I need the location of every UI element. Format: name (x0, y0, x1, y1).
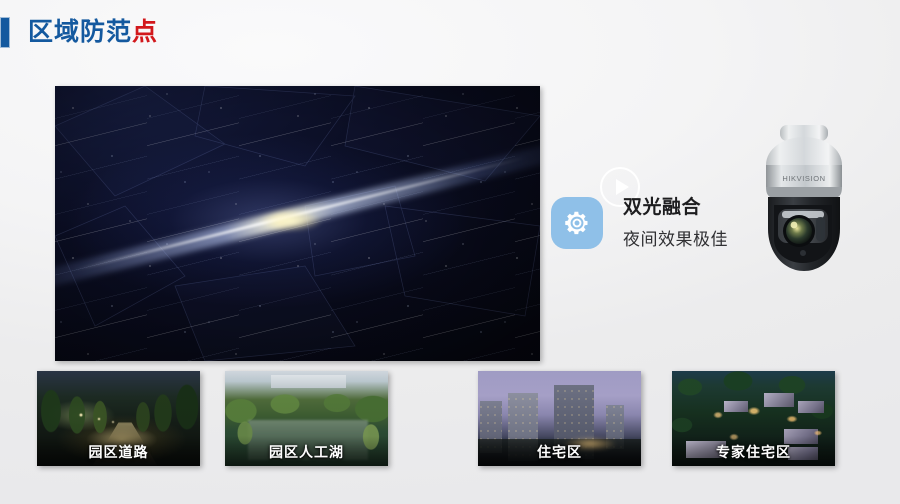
slide-canvas: 区域防范点 (0, 0, 900, 504)
play-triangle-icon (616, 179, 629, 195)
thumbnail-label: 园区道路 (37, 442, 200, 462)
feature-text-group: 双光融合 夜间效果极佳 (623, 196, 728, 250)
thumbnail-label: 住宅区 (478, 442, 641, 462)
header-accent-bar (0, 17, 10, 48)
thumbnail-label: 园区人工湖 (225, 442, 388, 462)
thumbnail-card[interactable]: 园区道路 (37, 371, 200, 466)
main-video-panel[interactable] (55, 86, 540, 361)
video-vignette (55, 86, 540, 361)
page-title-accent: 点 (132, 18, 158, 46)
feature-callout: 双光融合 夜间效果极佳 (551, 196, 728, 250)
gear-icon (551, 197, 603, 249)
thumbnail-card[interactable]: 园区人工湖 (225, 371, 388, 466)
ptz-dome-camera-image: HIKVISION (748, 113, 860, 281)
thumbnail-card[interactable]: 住宅区 (478, 371, 641, 466)
thumbnail-label: 专家住宅区 (672, 442, 835, 462)
feature-title: 双光融合 (623, 196, 728, 220)
slide-header: 区域防范点 (0, 16, 158, 48)
svg-text:HIKVISION: HIKVISION (782, 174, 825, 183)
feature-subtitle: 夜间效果极佳 (623, 229, 728, 250)
thumbnail-card[interactable]: 专家住宅区 (672, 371, 835, 466)
page-title: 区域防范点 (28, 20, 158, 45)
page-title-primary: 区域防范 (28, 18, 132, 46)
